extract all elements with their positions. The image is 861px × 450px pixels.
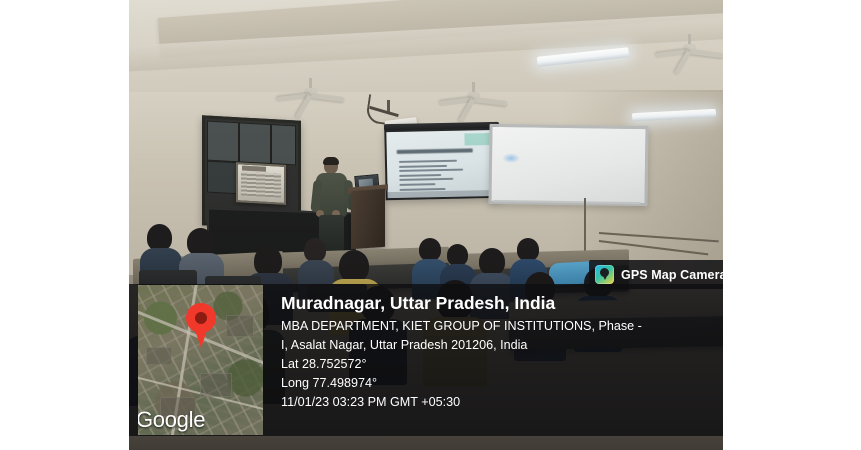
screenshot-canvas: GPS Map Camera Google Muradnaga xyxy=(0,0,861,450)
wall-cable xyxy=(584,198,586,256)
longitude-value: Long 77.498974° xyxy=(281,374,713,393)
podium xyxy=(351,189,385,249)
slide-bullet-list xyxy=(399,159,472,193)
address-line-1: MBA DEPARTMENT, KIET GROUP OF INSTITUTIO… xyxy=(281,317,713,336)
map-pin-icon xyxy=(186,303,216,333)
whiteboard-glare xyxy=(502,153,520,163)
latitude-value: Lat 28.752572° xyxy=(281,355,713,374)
address-line-2: I, Asalat Nagar, Uttar Pradesh 201206, I… xyxy=(281,336,713,355)
location-title: Muradnagar, Uttar Pradesh, India xyxy=(281,294,713,314)
gps-text-block: Muradnagar, Uttar Pradesh, India MBA DEP… xyxy=(263,284,723,436)
timestamp-value: 11/01/23 03:23 PM GMT +05:30 xyxy=(281,393,713,412)
gps-camera-app-icon xyxy=(595,265,614,284)
google-watermark: Google xyxy=(138,407,205,433)
gps-info-overlay: Google Muradnagar, Uttar Pradesh, India … xyxy=(129,284,723,436)
presenter-person xyxy=(312,158,354,248)
gps-camera-photo: GPS Map Camera Google Muradnaga xyxy=(129,0,723,450)
map-thumbnail[interactable]: Google xyxy=(138,285,263,435)
projection-screen xyxy=(384,128,501,200)
whiteboard xyxy=(488,124,648,206)
air-conditioner-icon xyxy=(236,162,286,205)
gps-badge-label: GPS Map Camera xyxy=(621,268,723,282)
slide-title-text xyxy=(397,148,473,154)
